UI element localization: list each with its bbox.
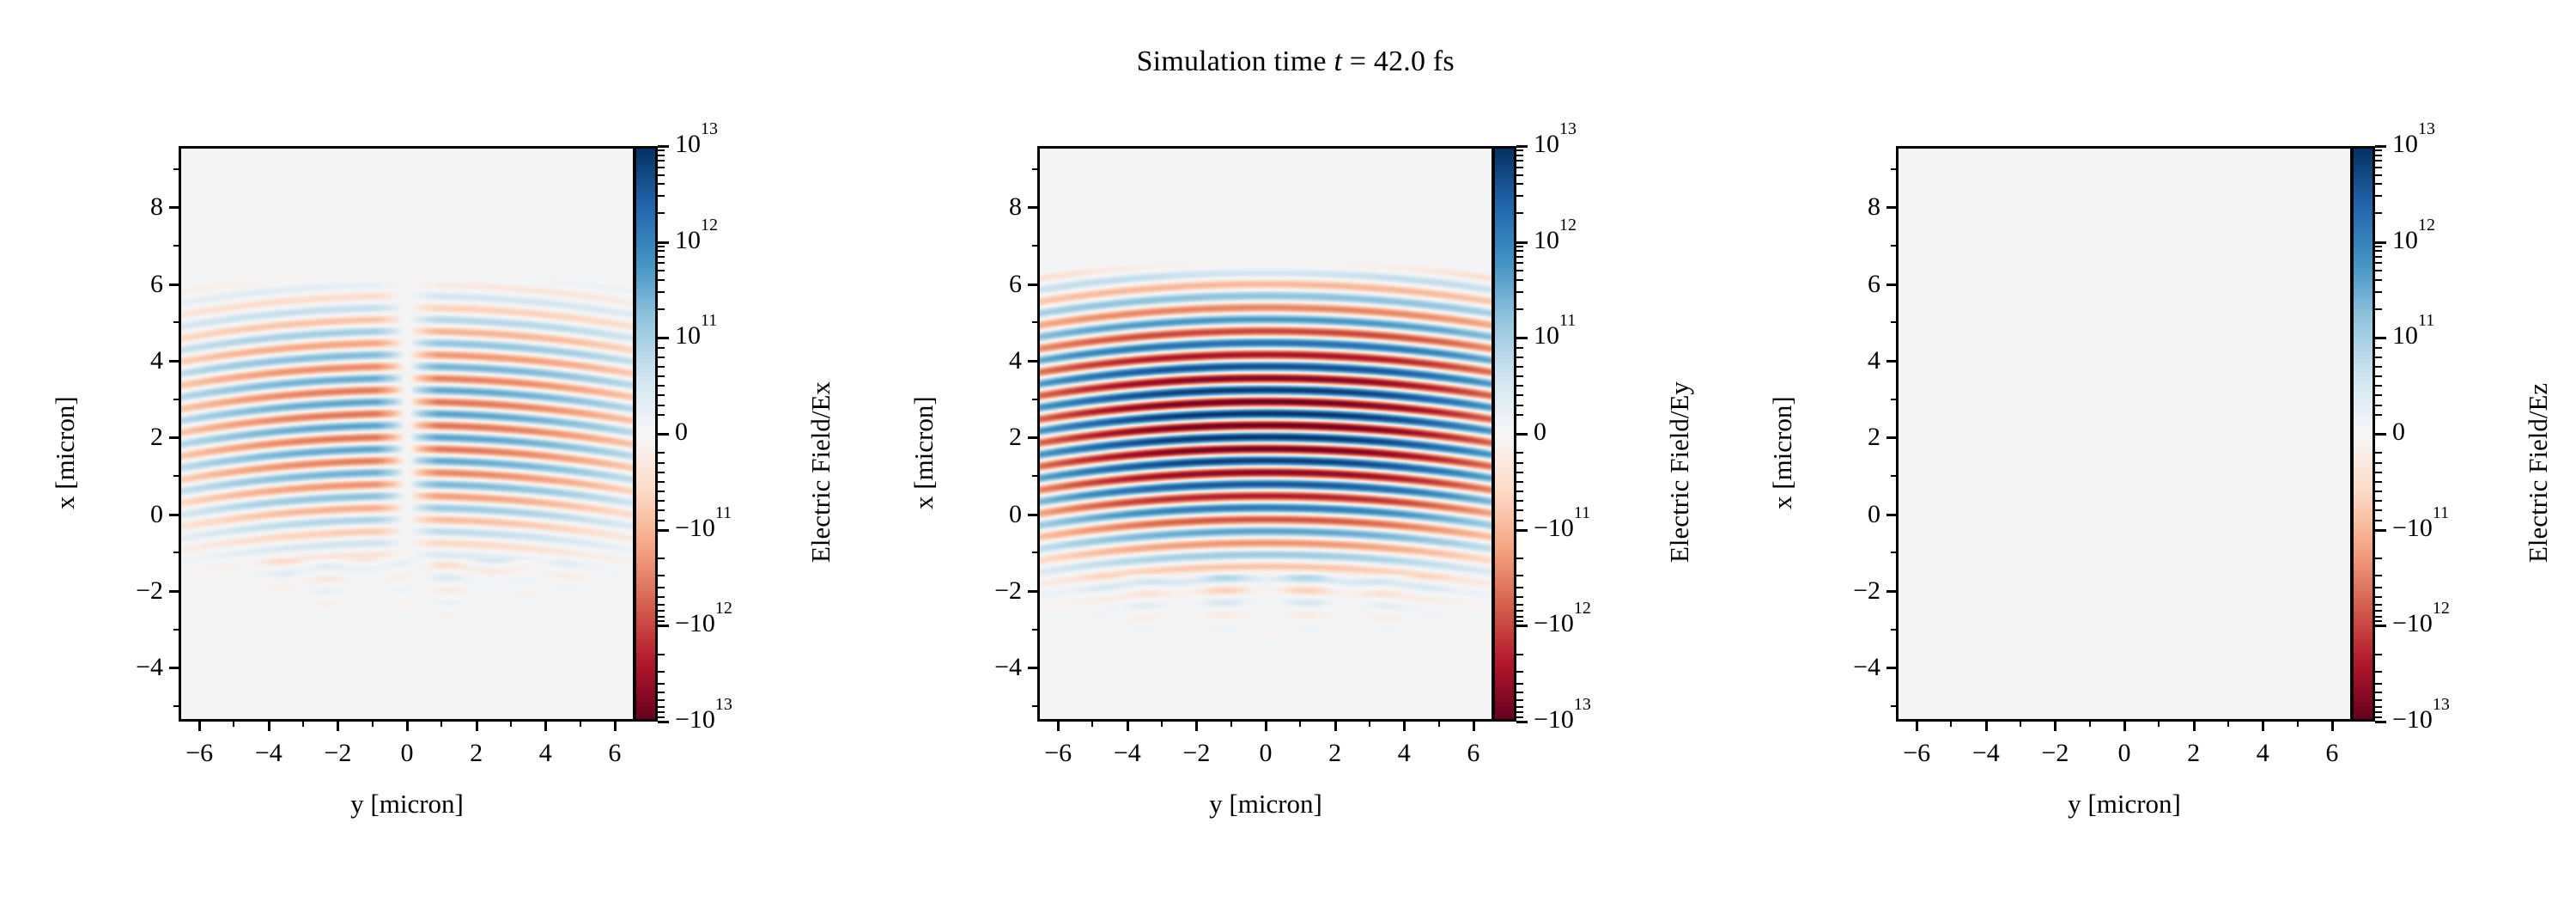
y-tick-minor: [173, 168, 179, 170]
y-tick-major: [1886, 667, 1896, 669]
y-tick-major: [1028, 514, 1037, 516]
colorbar-tick-minor: [2375, 212, 2382, 214]
colorbar-tick-minor: [2375, 472, 2382, 473]
x-tick-label: 2: [1301, 740, 1370, 766]
colorbar-tick-minor: [658, 520, 665, 521]
x-tick-label: 0: [373, 740, 441, 766]
y-tick-minor: [1891, 168, 1896, 170]
y-tick-minor: [1032, 629, 1037, 631]
colorbar-title-ey: Electric Field/Ey: [1664, 381, 1695, 563]
colorbar-tick-minor: [1516, 385, 1523, 387]
colorbar-tick-minor: [1516, 174, 1523, 176]
y-tick-minor: [1032, 399, 1037, 400]
colorbar-tick-minor: [2375, 291, 2382, 293]
colorbar-tick-minor: [2375, 347, 2382, 349]
colorbar-tick-minor: [2375, 683, 2382, 685]
colorbar-tick-major: [2375, 625, 2386, 627]
x-tick-label: 4: [511, 740, 580, 766]
y-tick-label: −4: [926, 655, 1022, 680]
field-image-ey: [1040, 149, 1492, 719]
y-tick-major: [1028, 590, 1037, 593]
colorbar-tick-minor: [1516, 491, 1523, 492]
colorbar-tick-minor: [658, 452, 665, 454]
x-tick-major: [406, 722, 409, 731]
colorbar-tick-minor: [1516, 366, 1523, 368]
y-axis-label: x [micron]: [1767, 396, 1798, 509]
colorbar-tick-major: [2375, 145, 2386, 148]
colorbar-tick-minor: [2375, 604, 2382, 606]
y-tick-label: 8: [67, 194, 163, 220]
colorbar-tick-minor: [658, 195, 665, 197]
colorbar-tick-minor: [2375, 250, 2382, 252]
x-tick-major: [1403, 722, 1406, 731]
colorbar-tick-minor: [1516, 520, 1523, 521]
colorbar-tick-label: −1011: [1534, 515, 1590, 541]
y-tick-label: 2: [926, 424, 1022, 450]
y-tick-major: [169, 206, 179, 209]
y-tick-minor: [173, 705, 179, 707]
colorbar-tick-minor: [2375, 706, 2382, 708]
colorbar-tick-minor: [2375, 620, 2382, 622]
colorbar-tick-minor: [2375, 183, 2382, 185]
y-tick-label: 8: [926, 194, 1022, 220]
colorbar-tick-minor: [658, 405, 665, 406]
colorbar-tick-minor: [2375, 452, 2382, 454]
y-tick-major: [169, 283, 179, 286]
colorbar-tick-minor: [658, 558, 665, 559]
colorbar-tick-minor: [2375, 610, 2382, 612]
colorbar-tick-label: 0: [1534, 419, 1546, 445]
colorbar-tick-minor: [658, 308, 665, 310]
x-tick-label: 6: [1439, 740, 1508, 766]
colorbar-tick-minor: [1516, 183, 1523, 185]
y-tick-minor: [1032, 245, 1037, 247]
y-tick-major: [169, 590, 179, 593]
colorbar-tick-minor: [1516, 558, 1523, 559]
y-tick-minor: [1032, 552, 1037, 553]
colorbar-tick-major: [658, 241, 669, 244]
colorbar-tick-major: [1516, 145, 1528, 148]
colorbar-tick-label: 1012: [1534, 228, 1577, 253]
y-tick-major: [1028, 436, 1037, 439]
colorbar-tick-minor: [658, 500, 665, 502]
y-tick-label: 8: [1784, 194, 1880, 220]
y-tick-label: 0: [67, 502, 163, 527]
colorbar-tick-minor: [2375, 279, 2382, 281]
colorbar-tick-minor: [1516, 160, 1523, 162]
colorbar-tick-major: [658, 433, 669, 436]
y-tick-major: [169, 436, 179, 439]
colorbar-tick-minor: [2375, 692, 2382, 693]
colorbar-tick-minor: [2375, 366, 2382, 368]
y-tick-minor: [1891, 475, 1896, 477]
y-tick-major: [1028, 206, 1037, 209]
colorbar-tick-minor: [658, 174, 665, 176]
colorbar-tick-label: −1013: [2392, 707, 2450, 733]
colorbar-tick-minor: [1516, 375, 1523, 377]
colorbar-tick-label: 1011: [675, 323, 717, 349]
y-tick-label: −4: [67, 655, 163, 680]
colorbar-title-ez: Electric Field/Ez: [2523, 383, 2554, 563]
colorbar-tick-label: −1013: [675, 707, 732, 733]
colorbar-tick-minor: [1516, 394, 1523, 396]
y-axis-label: x [micron]: [908, 396, 939, 509]
y-tick-major: [169, 667, 179, 669]
colorbar-tick-minor: [658, 654, 665, 655]
colorbar-tick-minor: [658, 491, 665, 492]
y-tick-major: [1886, 514, 1896, 516]
colorbar-tick-minor: [1516, 270, 1523, 271]
x-tick-label: −6: [1882, 740, 1951, 766]
y-tick-major: [1886, 436, 1896, 439]
x-tick-major: [2331, 722, 2334, 731]
colorbar-tick-minor: [658, 155, 665, 156]
colorbar-tick-minor: [658, 616, 665, 618]
colorbar-tick-minor: [2375, 262, 2382, 264]
x-tick-minor: [1369, 722, 1370, 727]
colorbar-tick-minor: [658, 160, 665, 162]
x-tick-minor: [2158, 722, 2160, 727]
x-tick-major: [2193, 722, 2196, 731]
y-tick-major: [169, 514, 179, 516]
colorbar-tick-minor: [1516, 357, 1523, 358]
colorbar-tick-minor: [2375, 587, 2382, 588]
colorbar-tick-minor: [2375, 270, 2382, 271]
colorbar-tick-minor: [2375, 654, 2382, 655]
colorbar-tick-minor: [1516, 452, 1523, 454]
x-axis-label: y [micron]: [179, 789, 635, 820]
colorbar-tick-minor: [1516, 291, 1523, 293]
colorbar-tick-minor: [2375, 596, 2382, 598]
colorbar-tick-minor: [1516, 279, 1523, 281]
colorbar-tick-label: 1012: [2392, 228, 2435, 253]
x-tick-minor: [233, 722, 234, 727]
y-tick-label: 4: [1784, 348, 1880, 374]
x-tick-label: −2: [1162, 740, 1230, 766]
y-tick-major: [169, 360, 179, 363]
colorbar-title-ex: Electric Field/Ex: [805, 381, 836, 563]
y-tick-major: [1886, 360, 1896, 363]
colorbar-tick-minor: [658, 575, 665, 576]
colorbar-tick-minor: [2375, 394, 2382, 396]
x-axis-label: y [micron]: [1037, 789, 1494, 820]
colorbar-tick-label: −1011: [2392, 515, 2449, 541]
x-tick-label: −4: [1952, 740, 2020, 766]
colorbar-tick-minor: [1516, 654, 1523, 655]
y-tick-major: [1886, 283, 1896, 286]
colorbar-tick-label: −1011: [675, 515, 732, 541]
colorbar-tick-minor: [2375, 716, 2382, 718]
colorbar-tick-minor: [658, 385, 665, 387]
y-axis-label: x [micron]: [50, 396, 81, 509]
colorbar-tick-minor: [2375, 558, 2382, 559]
x-tick-label: 0: [1231, 740, 1300, 766]
y-tick-label: 4: [926, 348, 1022, 374]
x-tick-minor: [302, 722, 304, 727]
colorbar-tick-minor: [1516, 671, 1523, 673]
y-tick-label: 0: [926, 502, 1022, 527]
colorbar-tick-major: [2375, 433, 2386, 436]
x-tick-label: 2: [442, 740, 511, 766]
colorbar-tick-minor: [1516, 149, 1523, 151]
colorbar-tick-minor: [1516, 347, 1523, 349]
colorbar-tick-minor: [2375, 195, 2382, 197]
x-tick-minor: [1950, 722, 1952, 727]
x-tick-label: 4: [1370, 740, 1438, 766]
x-tick-label: −2: [2020, 740, 2089, 766]
colorbar-tick-label: −1012: [1534, 611, 1591, 637]
colorbar-tick-minor: [2375, 155, 2382, 156]
colorbar-tick-minor: [1516, 716, 1523, 718]
colorbar-tick-major: [658, 337, 669, 339]
colorbar-tick-minor: [2375, 414, 2382, 416]
y-tick-major: [1028, 360, 1037, 363]
y-tick-minor: [173, 245, 179, 247]
colorbar-tick-minor: [1516, 308, 1523, 310]
y-tick-minor: [1891, 705, 1896, 707]
colorbar-tick-minor: [658, 610, 665, 612]
field-image-ez: [1899, 149, 2350, 719]
y-tick-minor: [1891, 245, 1896, 247]
panel-ez: 86420−2−4−6−4−20246x [micron]y [micron]1…: [1717, 0, 2576, 902]
heatmap-axes-ex[interactable]: [179, 146, 635, 722]
colorbar-tick-minor: [658, 375, 665, 377]
colorbar-tick-minor: [658, 366, 665, 368]
colorbar-tick-minor: [1516, 414, 1523, 416]
field-image-ex: [181, 149, 633, 719]
colorbar-tick-major: [1516, 241, 1528, 244]
x-tick-minor: [1161, 722, 1163, 727]
colorbar-tick-label: 1012: [675, 228, 718, 253]
colorbar-tick-minor: [2375, 256, 2382, 258]
x-tick-major: [1057, 722, 1060, 731]
colorbar-tick-minor: [1516, 604, 1523, 606]
y-tick-major: [1886, 590, 1896, 593]
y-tick-minor: [1891, 399, 1896, 400]
colorbar-tick-minor: [2375, 711, 2382, 713]
colorbar-tick-minor: [658, 604, 665, 606]
colorbar-tick-label: −1012: [2392, 611, 2450, 637]
colorbar-tick-label: 1013: [1534, 131, 1577, 157]
x-tick-label: 0: [2090, 740, 2159, 766]
colorbar-tick-minor: [2375, 405, 2382, 406]
colorbar-tick-minor: [1516, 462, 1523, 464]
x-tick-major: [1916, 722, 1918, 731]
y-tick-minor: [173, 629, 179, 631]
heatmap-axes-ez[interactable]: [1896, 146, 2353, 722]
y-tick-minor: [1891, 321, 1896, 323]
colorbar-ez[interactable]: [2351, 146, 2375, 722]
colorbar-tick-minor: [1516, 620, 1523, 622]
colorbar-tick-minor: [1516, 683, 1523, 685]
colorbar-tick-minor: [658, 699, 665, 701]
x-tick-major: [1127, 722, 1129, 731]
y-tick-major: [1028, 667, 1037, 669]
x-tick-label: 2: [2160, 740, 2228, 766]
colorbar-tick-major: [1516, 721, 1528, 723]
colorbar-tick-major: [1516, 337, 1528, 339]
colorbar-tick-label: 1011: [1534, 323, 1576, 349]
colorbar-tick-minor: [2375, 174, 2382, 176]
y-tick-minor: [1032, 705, 1037, 707]
x-tick-minor: [1230, 722, 1232, 727]
colorbar-tick-minor: [1516, 575, 1523, 576]
colorbar-tick-minor: [1516, 711, 1523, 713]
colorbar-tick-minor: [1516, 472, 1523, 473]
colorbar-tick-minor: [1516, 699, 1523, 701]
y-tick-label: 6: [67, 271, 163, 297]
x-tick-label: −4: [234, 740, 303, 766]
colorbar-tick-minor: [658, 250, 665, 252]
colorbar-tick-minor: [658, 246, 665, 247]
x-tick-label: 4: [2228, 740, 2297, 766]
colorbar-tick-minor: [658, 149, 665, 151]
colorbar-tick-minor: [658, 462, 665, 464]
y-tick-major: [1886, 206, 1896, 209]
x-tick-minor: [580, 722, 581, 727]
colorbar-tick-minor: [658, 587, 665, 588]
colorbar-tick-minor: [2375, 385, 2382, 387]
colorbar-tick-label: −1013: [1534, 707, 1591, 733]
y-tick-major: [1028, 283, 1037, 286]
x-tick-label: 6: [580, 740, 649, 766]
x-tick-major: [1473, 722, 1475, 731]
y-tick-minor: [1032, 321, 1037, 323]
y-tick-minor: [1891, 552, 1896, 553]
colorbar-tick-minor: [658, 212, 665, 214]
x-tick-minor: [372, 722, 374, 727]
y-tick-label: −2: [1784, 578, 1880, 604]
colorbar-ex[interactable]: [634, 146, 658, 722]
x-tick-minor: [1091, 722, 1093, 727]
colorbar-tick-minor: [2375, 520, 2382, 521]
colorbar-tick-label: 0: [2392, 419, 2405, 445]
colorbar-tick-major: [2375, 337, 2386, 339]
colorbar-tick-major: [1516, 529, 1528, 532]
colorbar-tick-minor: [2375, 575, 2382, 576]
colorbar-tick-minor: [1516, 405, 1523, 406]
colorbar-tick-minor: [2375, 149, 2382, 151]
colorbar-tick-minor: [658, 706, 665, 708]
y-tick-label: 2: [67, 424, 163, 450]
y-tick-minor: [173, 399, 179, 400]
colorbar-tick-major: [2375, 721, 2386, 723]
panel-ex: 86420−2−4−6−4−20246x [micron]y [micron]1…: [0, 0, 859, 902]
colorbar-tick-minor: [658, 279, 665, 281]
colorbar-tick-minor: [1516, 587, 1523, 588]
colorbar-tick-minor: [1516, 155, 1523, 156]
x-tick-major: [1334, 722, 1337, 731]
x-tick-major: [614, 722, 617, 731]
colorbar-tick-minor: [2375, 167, 2382, 168]
colorbar-tick-minor: [658, 270, 665, 271]
colorbar-tick-minor: [658, 671, 665, 673]
colorbar-tick-minor: [658, 596, 665, 598]
y-tick-label: 6: [926, 271, 1022, 297]
colorbar-tick-minor: [658, 509, 665, 511]
colorbar-gradient: [2354, 149, 2372, 719]
colorbar-tick-minor: [1516, 509, 1523, 511]
heatmap-axes-ey[interactable]: [1037, 146, 1494, 722]
colorbar-ey[interactable]: [1492, 146, 1516, 722]
colorbar-tick-major: [2375, 241, 2386, 244]
colorbar-tick-major: [658, 721, 669, 723]
y-tick-label: 0: [1784, 502, 1880, 527]
colorbar-tick-major: [658, 145, 669, 148]
colorbar-tick-minor: [1516, 610, 1523, 612]
colorbar-tick-label: −1012: [675, 611, 732, 637]
colorbar-gradient: [636, 149, 655, 719]
colorbar-tick-major: [1516, 433, 1528, 436]
x-tick-minor: [2020, 722, 2021, 727]
x-tick-minor: [2297, 722, 2299, 727]
x-tick-label: 6: [2298, 740, 2366, 766]
x-tick-minor: [440, 722, 442, 727]
x-tick-major: [198, 722, 201, 731]
colorbar-tick-minor: [658, 692, 665, 693]
colorbar-tick-minor: [2375, 671, 2382, 673]
colorbar-tick-minor: [658, 394, 665, 396]
y-tick-label: −2: [926, 578, 1022, 604]
colorbar-tick-minor: [1516, 256, 1523, 258]
y-tick-label: 4: [67, 348, 163, 374]
colorbar-tick-minor: [2375, 616, 2382, 618]
colorbar-tick-minor: [658, 683, 665, 685]
colorbar-tick-minor: [2375, 160, 2382, 162]
colorbar-tick-minor: [2375, 509, 2382, 511]
colorbar-tick-major: [2375, 529, 2386, 532]
x-tick-label: −6: [1024, 740, 1092, 766]
colorbar-tick-minor: [2375, 246, 2382, 247]
x-tick-major: [544, 722, 547, 731]
x-tick-major: [476, 722, 478, 731]
x-tick-major: [2054, 722, 2057, 731]
y-tick-minor: [173, 321, 179, 323]
y-tick-label: −4: [1784, 655, 1880, 680]
x-tick-minor: [1299, 722, 1301, 727]
x-tick-minor: [510, 722, 512, 727]
colorbar-tick-minor: [1516, 167, 1523, 168]
colorbar-tick-minor: [658, 291, 665, 293]
colorbar-tick-minor: [658, 347, 665, 349]
colorbar-tick-major: [658, 625, 669, 627]
colorbar-tick-label: 1013: [675, 131, 718, 157]
colorbar-tick-minor: [2375, 500, 2382, 502]
colorbar-tick-minor: [658, 357, 665, 358]
colorbar-tick-minor: [658, 472, 665, 473]
y-tick-minor: [1032, 475, 1037, 477]
colorbar-gradient: [1495, 149, 1514, 719]
x-tick-label: −4: [1093, 740, 1162, 766]
colorbar-tick-minor: [1516, 246, 1523, 247]
colorbar-tick-minor: [1516, 250, 1523, 252]
colorbar-tick-label: 1011: [2392, 323, 2434, 349]
x-tick-minor: [2089, 722, 2091, 727]
colorbar-tick-minor: [2375, 357, 2382, 358]
colorbar-tick-label: 1013: [2392, 131, 2435, 157]
y-tick-label: 6: [1784, 271, 1880, 297]
x-tick-minor: [1438, 722, 1440, 727]
x-tick-label: −2: [303, 740, 372, 766]
x-tick-major: [268, 722, 270, 731]
colorbar-tick-minor: [658, 711, 665, 713]
x-tick-label: −6: [165, 740, 234, 766]
x-tick-major: [1265, 722, 1267, 731]
colorbar-tick-minor: [1516, 481, 1523, 483]
colorbar-tick-major: [658, 529, 669, 532]
colorbar-tick-minor: [658, 167, 665, 168]
colorbar-tick-minor: [658, 262, 665, 264]
